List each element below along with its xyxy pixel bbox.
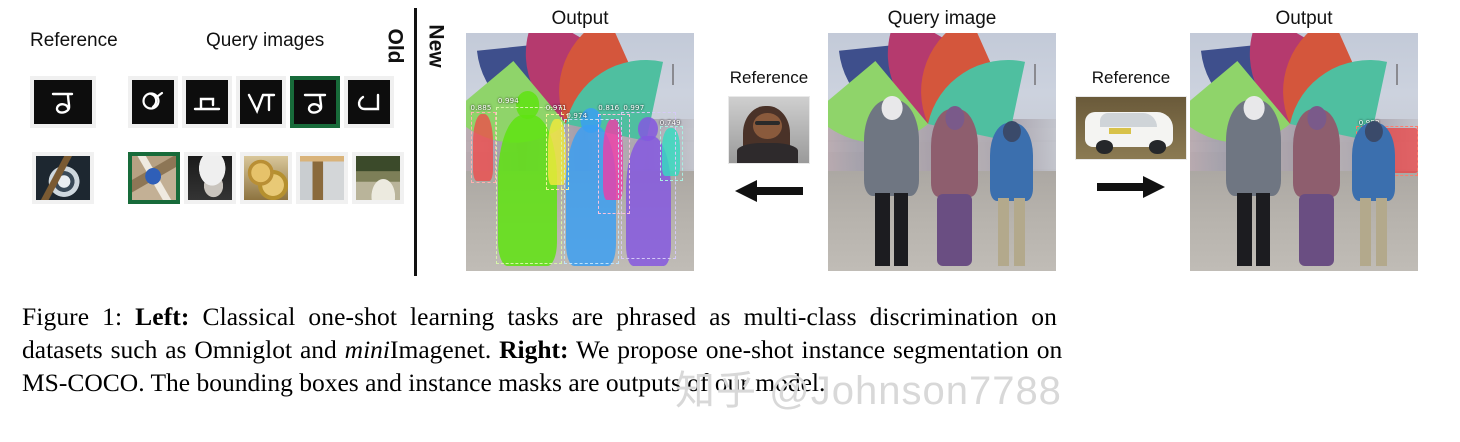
reference-left-column: Reference <box>694 68 844 204</box>
head-white-cap <box>1243 96 1264 119</box>
caption-line2-text-b: Imagenet. <box>390 335 491 364</box>
leg-left <box>1360 198 1371 267</box>
score-6: 0.749 <box>660 119 681 127</box>
caption-line-3: MS-COCO. The bounding boxes and instance… <box>22 366 1442 399</box>
photo-doorway-light <box>300 156 344 200</box>
arrow-left-icon <box>733 178 805 204</box>
bbox-red <box>471 112 496 183</box>
caption-line2-text-c: We propose one-shot instance segmentatio… <box>576 335 1062 364</box>
score-0: 0.994 <box>498 97 519 105</box>
miniimagenet-reference-photo[interactable] <box>32 152 94 204</box>
person-purple-skirt <box>931 109 979 266</box>
label-new: New <box>424 24 448 67</box>
ref-glasses <box>755 121 781 126</box>
reference-left-title: Reference <box>694 68 844 88</box>
omniglot-query-tile-4[interactable] <box>290 76 340 128</box>
scene-festival-crowd: 0.994 0.885 0.971 0.974 0.816 0.997 0.74… <box>466 33 694 271</box>
car-window <box>1100 113 1157 127</box>
caption-right-bold: Right: <box>499 335 568 364</box>
caption-figure-number: Figure 1: <box>22 302 122 331</box>
score-2: 0.971 <box>546 104 567 112</box>
omniglot-glyph-4 <box>294 80 336 124</box>
omniglot-query-tile-1[interactable] <box>128 76 178 128</box>
reference-column-title: Reference <box>30 30 118 52</box>
leg-right <box>1376 198 1387 267</box>
reference-left-image[interactable] <box>728 96 810 164</box>
omniglot-glyph-2 <box>186 80 228 124</box>
car-plate <box>1109 128 1131 134</box>
reference-right-image[interactable] <box>1075 96 1187 160</box>
head-white-cap <box>881 96 902 119</box>
caption-mini-italic: mini <box>345 335 390 364</box>
output-right-image: 0.953 <box>1190 33 1418 271</box>
miniimagenet-query-photo-5[interactable] <box>352 152 404 204</box>
scene-festival-crowd-segmented: 0.953 <box>1190 33 1418 271</box>
miniimagenet-query-photo-3[interactable] <box>240 152 292 204</box>
query-image <box>828 33 1056 271</box>
output-left-title: Output <box>466 8 694 30</box>
omniglot-reference-tile[interactable] <box>30 76 96 128</box>
caption-line1-text: Classical one-shot learning tasks are ph… <box>202 302 1056 331</box>
person-grey-backpack <box>864 100 919 267</box>
scene-festival-crowd-plain <box>828 33 1056 271</box>
omniglot-reference-glyph <box>34 80 92 124</box>
omniglot-query-tile-5[interactable] <box>344 76 394 128</box>
person-purple-skirt <box>1293 109 1341 266</box>
ref-shirt <box>737 143 798 163</box>
leg-right <box>1256 193 1270 266</box>
umbrella-pole <box>672 64 674 85</box>
photo-mixing-bowl-spoon <box>36 156 90 200</box>
left-old-paradigm-panel: Reference Query images <box>0 0 410 292</box>
figure-caption: Figure 1: Left: Classical one-shot learn… <box>22 300 1442 399</box>
miniimagenet-query-photo-1[interactable] <box>128 152 180 204</box>
head-bandana <box>1307 106 1326 130</box>
person-blue-shirt <box>990 123 1033 266</box>
omniglot-query-tile-3[interactable] <box>236 76 286 128</box>
umbrella-pole <box>1034 64 1036 85</box>
caption-line-1: Figure 1: Left: Classical one-shot learn… <box>22 300 1442 333</box>
car-wheel-right <box>1149 140 1167 154</box>
omniglot-glyph-3 <box>240 80 282 124</box>
leg-left <box>998 198 1009 267</box>
omniglot-glyph-5 <box>348 80 390 124</box>
score-4: 0.816 <box>598 104 619 112</box>
ref-face <box>753 113 782 139</box>
query-image-title: Query image <box>828 8 1056 30</box>
skirt <box>1299 194 1333 266</box>
photo-child-in-hat <box>188 156 232 200</box>
label-old: Old <box>383 29 407 64</box>
omniglot-query-tile-2[interactable] <box>182 76 232 128</box>
score-3: 0.974 <box>566 112 587 120</box>
reference-right-column: Reference <box>1056 68 1206 200</box>
query-images-column-title: Query images <box>206 30 324 52</box>
figure-panel: Reference Query images <box>0 0 1460 292</box>
leg-left <box>875 193 889 266</box>
photo-blue-glove-hand <box>132 156 176 200</box>
caption-line2-text-a: datasets such as Omniglot and <box>22 335 337 364</box>
photo-wooden-bowls <box>244 156 288 200</box>
omniglot-glyph-1 <box>132 80 174 124</box>
score-1: 0.885 <box>471 104 492 112</box>
leg-left <box>1237 193 1251 266</box>
skirt <box>937 194 971 266</box>
head-bandana <box>945 106 964 130</box>
leg-right <box>894 193 908 266</box>
reference-right-title: Reference <box>1056 68 1206 88</box>
umbrella-pole <box>1396 64 1398 85</box>
person-blue-shirt <box>1352 123 1395 266</box>
bbox-teal <box>660 126 683 181</box>
miniimagenet-query-photo-2[interactable] <box>184 152 236 204</box>
score-5: 0.997 <box>623 104 644 112</box>
output-right-title: Output <box>1190 8 1418 30</box>
miniimagenet-query-photo-4[interactable] <box>296 152 348 204</box>
caption-line-2: datasets such as Omniglot and miniImagen… <box>22 333 1442 366</box>
caption-left-bold: Left: <box>135 302 189 331</box>
panel-divider <box>414 8 417 276</box>
photo-tent-shape <box>356 156 400 200</box>
person-grey-backpack <box>1226 100 1281 267</box>
arrow-right-icon <box>1095 174 1167 200</box>
leg-right <box>1014 198 1025 267</box>
output-left-image: 0.994 0.885 0.971 0.974 0.816 0.997 0.74… <box>466 33 694 271</box>
